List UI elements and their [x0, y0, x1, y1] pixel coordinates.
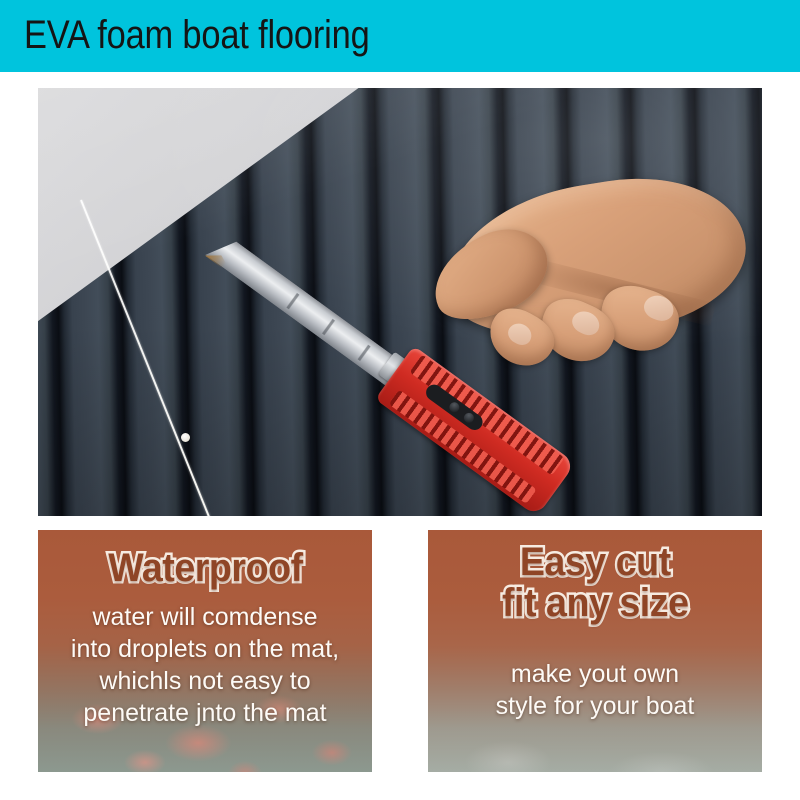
panel-body-line: into droplets on the mat, [71, 633, 339, 665]
header-band: EVA foam boat flooring [0, 0, 800, 72]
panel-body-waterproof: water will comdense into droplets on the… [63, 601, 347, 729]
panel-body-line: penetrate jnto the mat [71, 697, 339, 729]
panel-heading-easy-cut-line1: Easy cut [520, 542, 671, 583]
feature-panels: Waterproof water will comdense into drop… [38, 530, 762, 772]
panel-heading-easy-cut-line2: fit any size [502, 583, 689, 624]
hero-photo [38, 88, 762, 516]
feature-panel-waterproof: Waterproof water will comdense into drop… [38, 530, 372, 772]
panel-heading-waterproof: Waterproof [108, 548, 302, 589]
panel-body-line: make yout own [496, 658, 695, 690]
feature-panel-easy-cut: Easy cut fit any size make yout own styl… [428, 530, 762, 772]
guide-string-marker [181, 433, 190, 442]
panel-content-waterproof: Waterproof water will comdense into drop… [38, 530, 372, 772]
panel-content-easy-cut: Easy cut fit any size make yout own styl… [428, 530, 762, 772]
panel-body-easy-cut: make yout own style for your boat [488, 658, 703, 722]
panel-body-line: whichls not easy to [71, 665, 339, 697]
panel-body-line: water will comdense [71, 601, 339, 633]
hand [430, 184, 760, 414]
blade-score-lines [257, 272, 397, 381]
page-title: EVA foam boat flooring [24, 9, 370, 61]
product-listing-image: EVA foam boat flooring [0, 0, 800, 800]
panel-body-line: style for your boat [496, 690, 695, 722]
